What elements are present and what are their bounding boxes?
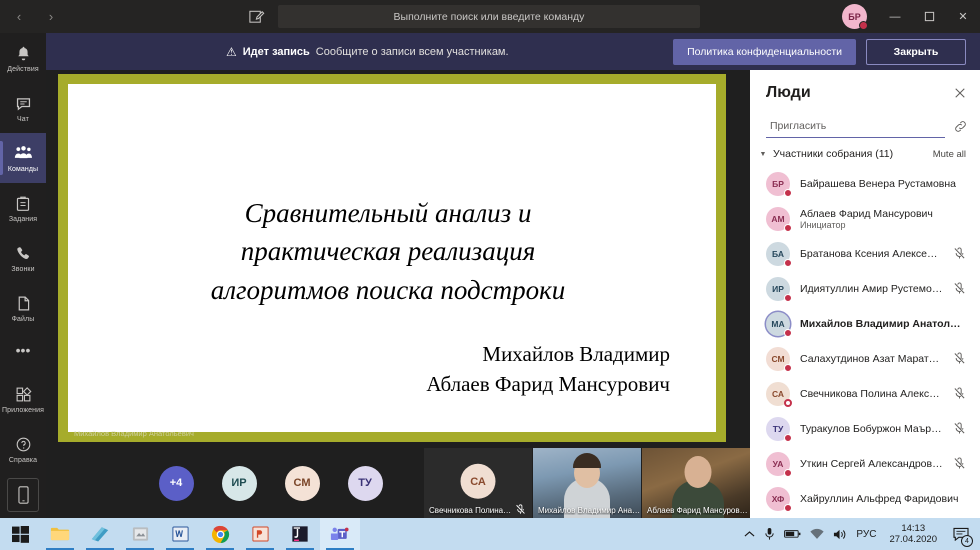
sidebar-item-files[interactable]: Файлы bbox=[0, 283, 46, 333]
presenter-name-overlay: Михайлов Владимир Анатольевич bbox=[74, 429, 194, 438]
gray-document-app-icon[interactable] bbox=[120, 518, 160, 550]
participant-name: Свечникова Полина… bbox=[429, 506, 511, 515]
sidebar-more-button[interactable]: ••• bbox=[0, 333, 46, 367]
participant-name: Уткин Сергей Александров… bbox=[800, 458, 943, 470]
filmstrip-avatar[interactable]: ИР bbox=[222, 466, 257, 501]
sidebar-label-assignments: Задания bbox=[9, 216, 37, 223]
people-panel-title: Люди bbox=[766, 84, 811, 102]
avatar: СМ bbox=[766, 347, 790, 371]
list-item[interactable]: ИР Идиятуллин Амир Рустемо… bbox=[758, 271, 972, 306]
invite-row bbox=[750, 110, 980, 138]
show-hidden-icons-chevron-icon[interactable] bbox=[744, 530, 755, 539]
avatar: СА bbox=[766, 382, 790, 406]
people-panel: Люди ▼ Участники собрания (11) Mute all … bbox=[750, 70, 980, 518]
search-input[interactable]: Выполните поиск или введите команду bbox=[278, 5, 700, 28]
recording-notice-text: Сообщите о записи всем участникам. bbox=[316, 46, 509, 58]
participants-list: БР Байрашева Венера Рустамовна АМ Аблаев… bbox=[750, 166, 980, 516]
list-item[interactable]: БР Байрашева Венера Рустамовна bbox=[758, 166, 972, 201]
participant-info: Свечникова Полина Алекс… bbox=[800, 388, 943, 400]
avatar-initials: СА bbox=[470, 475, 486, 487]
filmstrip-avatars: +4 ИР СМ ТУ bbox=[46, 448, 423, 518]
sidebar-item-apps[interactable]: Приложения bbox=[0, 374, 46, 424]
presence-indicator bbox=[784, 469, 792, 477]
warning-icon: ⚠ bbox=[226, 45, 237, 59]
microphone-tray-icon[interactable] bbox=[764, 527, 775, 541]
maximize-button[interactable] bbox=[912, 0, 946, 33]
muted-icon[interactable] bbox=[953, 387, 966, 400]
sidebar-label-calls: Звонки bbox=[11, 266, 34, 273]
sidebar-label-help: Справка bbox=[9, 457, 37, 464]
clock-time: 14:13 bbox=[889, 523, 937, 534]
apps-icon bbox=[15, 385, 32, 405]
list-item[interactable]: МА Михайлов Владимир Анатоль… bbox=[758, 306, 972, 341]
avatar: ХФ bbox=[766, 487, 790, 511]
participant-info: Братанова Ксения Алексее… bbox=[800, 248, 943, 260]
avatar-initials: СМ bbox=[771, 354, 784, 364]
presence-indicator bbox=[784, 364, 792, 372]
participant-name: Михайлов Владимир Ана… bbox=[538, 506, 640, 515]
participant-role: Инициатор bbox=[800, 220, 966, 230]
avatar-initials: ХФ bbox=[772, 494, 785, 504]
slide-author-2: Аблаев Фарид Мансурович bbox=[426, 369, 670, 399]
sidebar-item-help[interactable]: Справка bbox=[0, 424, 46, 474]
participant-name: Аблаев Фарид Мансуров… bbox=[647, 506, 748, 515]
participant-info: Уткин Сергей Александров… bbox=[800, 458, 943, 470]
list-item[interactable]: БА Братанова Ксения Алексее… bbox=[758, 236, 972, 271]
muted-icon[interactable] bbox=[953, 282, 966, 295]
participant-tile[interactable]: Аблаев Фарид Мансуров… bbox=[641, 448, 750, 518]
participant-tile[interactable]: СА Свечникова Полина… bbox=[423, 448, 532, 518]
recording-banner-actions: Политика конфиденциальности Закрыть bbox=[673, 39, 966, 65]
copy-link-icon[interactable] bbox=[953, 119, 968, 134]
sidebar-item-teams[interactable]: Команды bbox=[0, 133, 46, 183]
people-panel-header: Люди bbox=[750, 70, 980, 110]
sidebar-item-chat[interactable]: Чат bbox=[0, 83, 46, 133]
avatar-initials: АМ bbox=[771, 214, 784, 224]
search-placeholder: Выполните поиск или введите команду bbox=[394, 11, 585, 23]
back-button[interactable]: ‹ bbox=[10, 10, 28, 23]
avatar-initials: ИР bbox=[231, 477, 246, 489]
participant-info: Байрашева Венера Рустамовна bbox=[800, 178, 966, 190]
avatar[interactable]: БР bbox=[842, 4, 867, 29]
sidebar-label-chat: Чат bbox=[17, 116, 29, 123]
participant-name: Хайруллин Альфред Фаридович bbox=[800, 493, 966, 505]
powerpoint-icon[interactable] bbox=[240, 518, 280, 550]
filmstrip-avatar[interactable]: СМ bbox=[285, 466, 320, 501]
avatar: ИР bbox=[766, 277, 790, 301]
dismiss-banner-button[interactable]: Закрыть bbox=[866, 39, 966, 65]
presentation-slide: Сравнительный анализ и практическая реал… bbox=[68, 84, 716, 432]
help-icon bbox=[15, 435, 32, 455]
slide-title-line-2: практическая реализация bbox=[68, 232, 708, 270]
avatar: АМ bbox=[766, 207, 790, 231]
filmstrip-avatar[interactable]: ТУ bbox=[348, 466, 383, 501]
sidebar-item-activity[interactable]: Действия bbox=[0, 33, 46, 83]
avatar-initials: СА bbox=[772, 389, 784, 399]
chrome-icon[interactable] bbox=[200, 518, 240, 550]
participants-section-header[interactable]: ▼ Участники собрания (11) Mute all bbox=[750, 138, 980, 166]
participant-info: Туракулов Бобуржон Маър… bbox=[800, 423, 943, 435]
left-nav-rail: Действия Чат Команды Задания Звонки bbox=[0, 33, 46, 550]
avatar: БР bbox=[766, 172, 790, 196]
language-indicator[interactable]: РУС bbox=[856, 529, 876, 540]
clock-date: 27.04.2020 bbox=[889, 534, 937, 545]
recording-banner-message: ⚠ Идет запись Сообщите о записи всем уча… bbox=[226, 45, 509, 59]
avatar-initials: ИР bbox=[772, 284, 784, 294]
forward-button[interactable]: › bbox=[42, 10, 60, 23]
microsoft-teams-icon[interactable] bbox=[320, 518, 360, 550]
meeting-stage: Сравнительный анализ и практическая реал… bbox=[46, 70, 750, 448]
presence-indicator bbox=[784, 399, 792, 407]
windows-taskbar: РУС 14:13 27.04.2020 4 bbox=[0, 518, 980, 550]
avatar-initials: БА bbox=[772, 249, 784, 259]
presence-busy-indicator bbox=[859, 21, 868, 30]
list-item[interactable]: СА Свечникова Полина Алекс… bbox=[758, 376, 972, 411]
participant-name: Салахутдинов Азат Марато… bbox=[800, 353, 943, 365]
teams-icon bbox=[14, 144, 33, 164]
slide-title-line-3: алгоритмов поиска подстроки bbox=[68, 271, 708, 309]
avatar-initials: УА bbox=[773, 459, 784, 469]
presence-indicator bbox=[784, 329, 792, 337]
participant-info: Михайлов Владимир Анатоль… bbox=[800, 318, 966, 330]
close-icon[interactable] bbox=[954, 87, 966, 99]
sidebar-bottom-group: Приложения Справка bbox=[0, 374, 46, 518]
title-bar: ‹ › Выполните поиск или введите команду … bbox=[0, 0, 980, 33]
participant-info: Аблаев Фарид Мансурович Инициатор bbox=[800, 208, 966, 230]
mobile-device-icon[interactable] bbox=[7, 478, 39, 512]
assignments-icon bbox=[15, 194, 31, 214]
shared-screen-frame: Сравнительный анализ и практическая реал… bbox=[58, 74, 726, 442]
avatar-initials: ТУ bbox=[773, 424, 783, 434]
files-icon bbox=[16, 294, 31, 314]
list-item[interactable]: ТУ Туракулов Бобуржон Маър… bbox=[758, 411, 972, 446]
intellij-idea-icon[interactable] bbox=[280, 518, 320, 550]
windows-start-icon[interactable] bbox=[0, 518, 40, 550]
taskbar-app-buttons bbox=[40, 518, 360, 550]
participant-name: Идиятуллин Амир Рустемо… bbox=[800, 283, 943, 295]
battery-icon[interactable] bbox=[784, 529, 801, 539]
avatar: УА bbox=[766, 452, 790, 476]
filmstrip-overflow-badge[interactable]: +4 bbox=[159, 466, 194, 501]
wifi-icon[interactable] bbox=[810, 528, 824, 540]
slide-author-1: Михайлов Владимир bbox=[426, 339, 670, 369]
muted-icon[interactable] bbox=[953, 247, 966, 260]
presence-indicator bbox=[784, 259, 792, 267]
sidebar-label-activity: Действия bbox=[7, 66, 38, 73]
blue-book-app-icon[interactable] bbox=[80, 518, 120, 550]
list-item[interactable]: СМ Салахутдинов Азат Марато… bbox=[758, 341, 972, 376]
avatar-initials: БР bbox=[848, 12, 860, 22]
mute-all-button[interactable]: Mute all bbox=[933, 149, 966, 160]
avatar-initials: СМ bbox=[294, 477, 311, 489]
file-explorer-icon[interactable] bbox=[40, 518, 80, 550]
slide-authors: Михайлов Владимир Аблаев Фарид Мансурови… bbox=[426, 339, 670, 400]
word-icon[interactable] bbox=[160, 518, 200, 550]
participant-tile[interactable]: Михайлов Владимир Ана… bbox=[532, 448, 641, 518]
avatar: ТУ bbox=[766, 417, 790, 441]
slide-title: Сравнительный анализ и практическая реал… bbox=[68, 194, 708, 309]
list-item[interactable]: УА Уткин Сергей Александров… bbox=[758, 446, 972, 481]
clock[interactable]: 14:13 27.04.2020 bbox=[885, 523, 941, 545]
participant-name: Туракулов Бобуржон Маър… bbox=[800, 423, 943, 435]
privacy-policy-button[interactable]: Политика конфиденциальности bbox=[673, 39, 856, 65]
sidebar-label-apps: Приложения bbox=[2, 407, 44, 414]
notification-count-badge: 4 bbox=[961, 535, 973, 547]
participant-filmstrip: +4 ИР СМ ТУ СА Свечникова Полина… Михайл… bbox=[46, 448, 750, 518]
participant-info: Хайруллин Альфред Фаридович bbox=[800, 493, 966, 505]
participants-section-label: Участники собрания (11) bbox=[773, 148, 893, 160]
bell-icon bbox=[15, 44, 32, 64]
participant-name: Аблаев Фарид Мансурович bbox=[800, 208, 966, 220]
participant-name: Братанова Ксения Алексее… bbox=[800, 248, 943, 260]
close-button[interactable]: ✕ bbox=[946, 0, 980, 33]
presence-indicator bbox=[784, 224, 792, 232]
presence-indicator bbox=[784, 189, 792, 197]
avatar-initials: МА bbox=[771, 319, 784, 329]
presence-indicator bbox=[784, 294, 792, 302]
overflow-count: +4 bbox=[170, 477, 183, 489]
presence-indicator bbox=[784, 504, 792, 512]
participant-name: Байрашева Венера Рустамовна bbox=[800, 178, 966, 190]
list-item[interactable]: АМ Аблаев Фарид Мансурович Инициатор bbox=[758, 201, 972, 236]
muted-icon[interactable] bbox=[953, 422, 966, 435]
avatar: МА bbox=[766, 312, 790, 336]
participant-info: Салахутдинов Азат Марато… bbox=[800, 353, 943, 365]
minimize-button[interactable]: — bbox=[878, 0, 912, 33]
muted-icon[interactable] bbox=[953, 352, 966, 365]
sidebar-label-files: Файлы bbox=[12, 316, 35, 323]
participant-name: Свечникова Полина Алекс… bbox=[800, 388, 943, 400]
recording-banner: ⚠ Идет запись Сообщите о записи всем уча… bbox=[46, 33, 980, 70]
presence-indicator bbox=[784, 434, 792, 442]
list-item[interactable]: ХФ Хайруллин Альфред Фаридович bbox=[758, 481, 972, 516]
invite-input[interactable] bbox=[766, 114, 945, 138]
window-controls: — ✕ bbox=[878, 0, 980, 33]
avatar: СА bbox=[461, 464, 496, 499]
system-tray: РУС 14:13 27.04.2020 4 bbox=[744, 523, 980, 545]
volume-icon[interactable] bbox=[833, 528, 847, 541]
action-center-icon[interactable]: 4 bbox=[950, 523, 972, 545]
avatar-initials: БР bbox=[772, 179, 784, 189]
sidebar-item-calls[interactable]: Звонки bbox=[0, 233, 46, 283]
muted-icon bbox=[515, 504, 526, 515]
teams-meeting-window: ‹ › Выполните поиск или введите команду … bbox=[0, 0, 980, 550]
sidebar-item-assignments[interactable]: Задания bbox=[0, 183, 46, 233]
slide-title-line-1: Сравнительный анализ и bbox=[68, 194, 708, 232]
chat-icon bbox=[15, 94, 32, 114]
recording-status-text: Идет запись bbox=[243, 46, 310, 58]
avatar: БА bbox=[766, 242, 790, 266]
nav-arrows: ‹ › bbox=[10, 10, 70, 23]
avatar-initials: ТУ bbox=[358, 477, 372, 489]
sidebar-label-teams: Команды bbox=[8, 166, 38, 173]
participant-info: Идиятуллин Амир Рустемо… bbox=[800, 283, 943, 295]
muted-icon[interactable] bbox=[953, 457, 966, 470]
participant-name: Михайлов Владимир Анатоль… bbox=[800, 318, 966, 330]
chevron-down-icon[interactable]: ▼ bbox=[758, 151, 768, 158]
compose-icon[interactable] bbox=[248, 8, 265, 25]
phone-icon bbox=[15, 244, 31, 264]
